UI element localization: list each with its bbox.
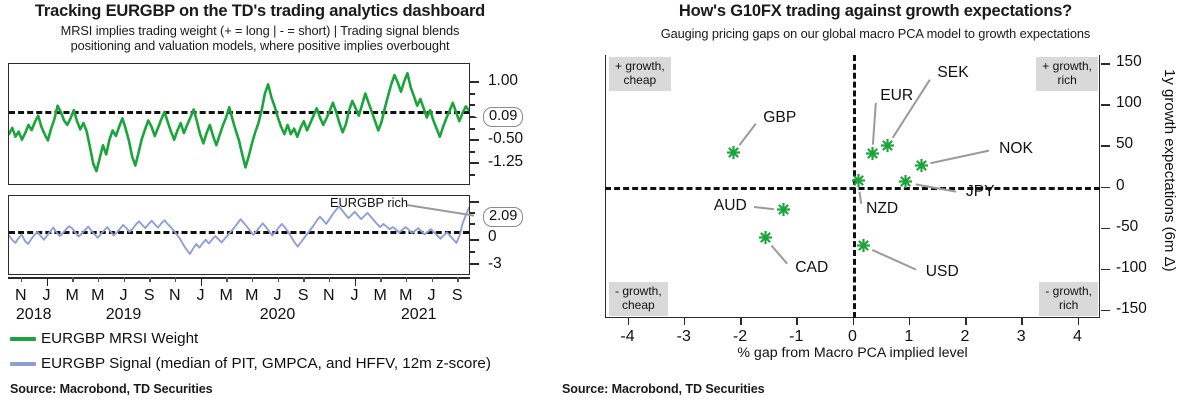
- left-chart-title: Tracking EURGBP on the TD's trading anal…: [0, 2, 520, 20]
- scatter-marker-eur: [865, 146, 880, 161]
- scatter-y-tick-label: 150: [1116, 53, 1142, 71]
- x-month-label: M: [392, 287, 420, 305]
- mrsi-callout-pointer: [474, 111, 483, 121]
- scatter-label-usd: USD: [926, 263, 959, 281]
- scatter-marker-gbp: [726, 145, 741, 160]
- right-chart-title: How's G10FX trading against growth expec…: [560, 2, 1191, 20]
- quadrant-bl-line1: - growth,: [615, 285, 662, 299]
- quadrant-br-line1: - growth,: [1045, 285, 1092, 299]
- x-month-label: N: [7, 287, 35, 305]
- legend-label-signal: EURGBP Signal (median of PIT, GMPCA, and…: [41, 355, 491, 372]
- quadrant-tag-top-left: + growth, cheap: [609, 57, 671, 91]
- x-tick: [124, 277, 125, 282]
- scatter-x-tick: [909, 318, 911, 325]
- signal-ytick-neg3: -3: [488, 255, 502, 273]
- x-tick: [149, 277, 150, 282]
- mrsi-weight-line: [9, 64, 469, 184]
- x-tick: [21, 277, 22, 282]
- quadrant-tl-line1: + growth,: [615, 60, 665, 74]
- x-month-label: M: [238, 287, 266, 305]
- scatter-y-tick: [1101, 269, 1110, 271]
- scatter-y-tick-label: -50: [1116, 218, 1138, 236]
- quadrant-br-line2: rich: [1045, 299, 1092, 313]
- legend-swatch-signal: [10, 362, 36, 366]
- x-month-label: M: [58, 287, 86, 305]
- x-tick: [329, 277, 330, 282]
- scatter-marker-nzd: [851, 173, 866, 188]
- mrsi-ytick-neg050: -0.50: [488, 130, 523, 148]
- scatter-label-cad: CAD: [795, 259, 828, 277]
- scatter-x-axis-title: % gap from Macro PCA implied level: [605, 345, 1100, 361]
- x-month-label: S: [289, 287, 317, 305]
- x-tick: [303, 277, 304, 282]
- scatter-y-tick: [1101, 310, 1110, 312]
- x-tick: [432, 277, 433, 282]
- scatter-marker-usd: [856, 238, 871, 253]
- quadrant-tag-bottom-right: - growth, rich: [1039, 282, 1098, 316]
- scatter-label-eur: EUR: [880, 87, 913, 105]
- scatter-y-tick: [1101, 187, 1110, 189]
- scatter-label-nok: NOK: [999, 140, 1033, 158]
- quadrant-bl-line2: cheap: [615, 299, 662, 313]
- x-tick: [226, 277, 227, 282]
- scatter-y-tick-label: 50: [1116, 135, 1133, 153]
- x-month-label: S: [135, 287, 163, 305]
- x-month-label: J: [418, 287, 446, 305]
- quadrant-tag-bottom-left: - growth, cheap: [609, 282, 668, 316]
- scatter-y-tick: [1101, 63, 1110, 65]
- scatter-x-tick: [853, 318, 855, 325]
- scatter-x-tick: [796, 318, 798, 325]
- x-tick: [175, 277, 176, 282]
- scatter-marker-aud: [776, 202, 791, 217]
- x-tick: [278, 277, 279, 282]
- scatter-marker-nok: [914, 158, 929, 173]
- scatter-y-tick-label: 100: [1116, 94, 1142, 112]
- quadrant-tr-line2: rich: [1042, 74, 1092, 88]
- mrsi-weight-subplot: [8, 63, 470, 185]
- scatter-marker-jpy: [898, 174, 913, 189]
- x-tick: [47, 277, 49, 286]
- x-tick: [406, 277, 407, 282]
- x-tick: [72, 277, 73, 282]
- scatter-marker-cad: [758, 230, 773, 245]
- right-source-note: Source: Macrobond, TD Securities: [562, 382, 765, 396]
- scatter-x-tick-label: 1: [894, 328, 924, 346]
- x-year-label: 2019: [94, 306, 154, 324]
- x-month-label: N: [315, 287, 343, 305]
- scatter-label-gbp: GBP: [763, 109, 796, 127]
- scatter-marker-sek: [880, 138, 895, 153]
- left-chart-panel: Tracking EURGBP on the TD's trading anal…: [0, 0, 560, 410]
- quadrant-tl-line2: cheap: [615, 74, 665, 88]
- scatter-x-tick-label: -4: [613, 328, 643, 346]
- scatter-x-tick-label: 4: [1063, 328, 1093, 346]
- x-month-label: J: [341, 287, 369, 305]
- signal-last-value-callout: 2.09: [483, 207, 523, 227]
- x-month-label: M: [366, 287, 394, 305]
- scatter-x-tick-label: 2: [950, 328, 980, 346]
- mrsi-ytick-neg125: -1.25: [488, 153, 523, 171]
- scatter-label-nzd: NZD: [866, 200, 898, 218]
- scatter-x-tick-label: -2: [725, 328, 755, 346]
- scatter-x-tick-label: -1: [781, 328, 811, 346]
- scatter-y-tick-label: 0: [1116, 177, 1125, 195]
- scatter-x-tick: [965, 318, 967, 325]
- x-month-label: J: [264, 287, 292, 305]
- left-subtitle-line2: positioning and valuation models, where …: [6, 38, 514, 53]
- left-plot-area: 1.00 -0.50 -1.25 0 -3 0.09 2.09 EURG: [8, 63, 478, 278]
- scatter-y-tick: [1101, 228, 1110, 230]
- scatter-x-tick: [1021, 318, 1023, 325]
- x-month-label: J: [110, 287, 138, 305]
- dashboard-page: Tracking EURGBP on the TD's trading anal…: [0, 0, 1191, 410]
- legend-swatch-mrsi: [10, 337, 36, 341]
- x-month-label: J: [33, 287, 61, 305]
- signal-ytick-0: 0: [488, 228, 497, 246]
- right-chart-subtitle: Gauging pricing gaps on our global macro…: [560, 26, 1191, 41]
- x-year-label: 2021: [389, 306, 449, 324]
- x-tick: [380, 277, 381, 282]
- legend-label-mrsi: EURGBP MRSI Weight: [41, 330, 198, 347]
- mrsi-ytick-100: 1.00: [488, 72, 518, 90]
- scatter-x-tick-label: 3: [1006, 328, 1036, 346]
- legend-item-signal: EURGBP Signal (median of PIT, GMPCA, and…: [10, 355, 491, 372]
- scatter-x-tick: [684, 318, 686, 325]
- scatter-x-tick-label: -3: [669, 328, 699, 346]
- right-chart-panel: How's G10FX trading against growth expec…: [560, 0, 1191, 410]
- scatter-label-aud: AUD: [714, 197, 747, 215]
- x-tick: [201, 277, 203, 286]
- scatter-label-sek: SEK: [937, 64, 968, 82]
- mrsi-last-value-callout: 0.09: [483, 107, 523, 127]
- scatter-x-tick: [1078, 318, 1080, 325]
- x-month-label: S: [443, 287, 471, 305]
- x-month-label: M: [212, 287, 240, 305]
- x-tick: [98, 277, 99, 282]
- left-chart-subtitle: MRSI implies trading weight (+ = long | …: [6, 23, 514, 53]
- x-year-label: 2020: [248, 306, 308, 324]
- eurgbp-rich-annotation: EURGBP rich: [330, 195, 408, 210]
- x-tick: [355, 277, 357, 286]
- quadrant-tr-line1: + growth,: [1042, 60, 1092, 74]
- scatter-label-jpy: JPY: [966, 183, 995, 201]
- left-source-note: Source: Macrobond, TD Securities: [10, 382, 213, 396]
- scatter-x-tick: [740, 318, 742, 325]
- x-month-label: N: [161, 287, 189, 305]
- x-year-label: 2018: [4, 306, 64, 324]
- scatter-y-tick-label: -100: [1116, 259, 1147, 277]
- x-tick: [252, 277, 253, 282]
- x-month-label: M: [84, 287, 112, 305]
- legend-item-mrsi: EURGBP MRSI Weight: [10, 330, 198, 347]
- scatter-y-tick-label: -150: [1116, 300, 1147, 318]
- left-subtitle-line1: MRSI implies trading weight (+ = long | …: [6, 23, 514, 38]
- scatter-x-tick: [628, 318, 630, 325]
- left-x-axis-rule: [8, 277, 470, 279]
- scatter-x-tick-label: 0: [838, 328, 868, 346]
- scatter-y-tick: [1101, 104, 1110, 106]
- scatter-plot-area: GBPEURSEKNOKJPYNZDAUDCADUSD + growth, ch…: [605, 55, 1100, 318]
- x-month-label: J: [187, 287, 215, 305]
- scatter-y-tick: [1101, 145, 1110, 147]
- scatter-y-axis-title: 1y growth expectations (6m Δ): [1161, 69, 1178, 272]
- x-tick: [457, 277, 458, 282]
- signal-callout-pointer: [474, 211, 483, 221]
- quadrant-tag-top-right: + growth, rich: [1036, 57, 1098, 91]
